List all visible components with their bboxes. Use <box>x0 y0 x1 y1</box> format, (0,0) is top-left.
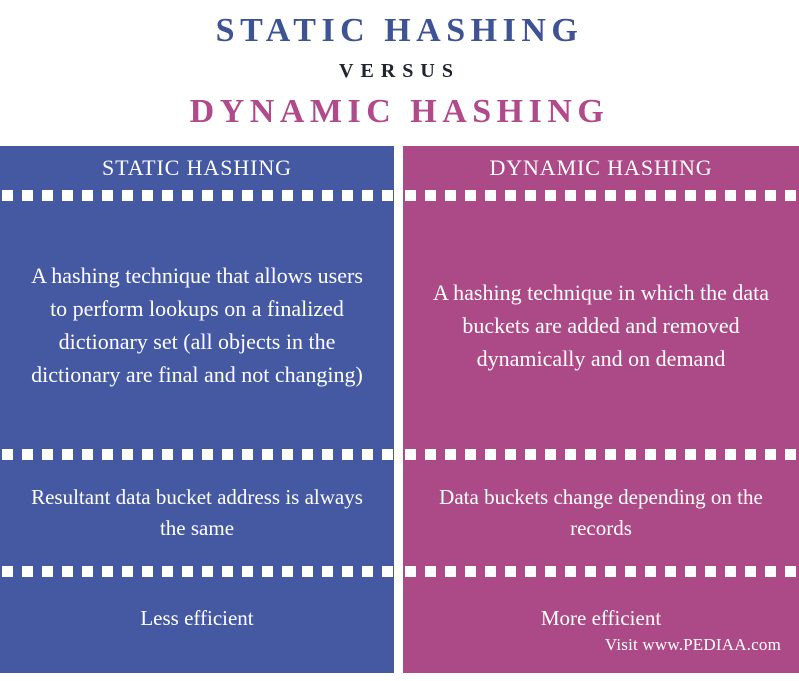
cell-static-address: Resultant data bucket address is always … <box>0 460 394 566</box>
footer-credit: Visit www.PEDIAA.com <box>605 635 781 655</box>
dashed-divider <box>0 190 394 201</box>
infographic-root: STATIC HASHING VERSUS DYNAMIC HASHING ST… <box>0 0 799 681</box>
page-title-versus: VERSUS <box>0 51 799 83</box>
cell-dynamic-buckets: Data buckets change depending on the rec… <box>403 460 799 566</box>
column-header-dynamic: DYNAMIC HASHING <box>403 146 799 190</box>
dashed-divider <box>403 190 799 201</box>
cell-static-definition: A hashing technique that allows users to… <box>0 201 394 449</box>
column-static-hashing: STATIC HASHING A hashing technique that … <box>0 146 394 673</box>
title-block: STATIC HASHING VERSUS DYNAMIC HASHING <box>0 0 799 146</box>
cell-dynamic-definition: A hashing technique in which the data bu… <box>403 201 799 449</box>
comparison-table: STATIC HASHING A hashing technique that … <box>0 146 799 673</box>
page-title-static: STATIC HASHING <box>0 0 799 51</box>
column-dynamic-hashing: DYNAMIC HASHING A hashing technique in w… <box>403 146 799 673</box>
column-header-static: STATIC HASHING <box>0 146 394 190</box>
column-gap-divider <box>394 146 403 673</box>
dashed-divider <box>403 449 799 460</box>
page-title-dynamic: DYNAMIC HASHING <box>0 83 799 132</box>
cell-static-efficiency: Less efficient <box>0 577 394 673</box>
dashed-divider <box>0 566 394 577</box>
cell-dynamic-efficiency: More efficient <box>403 577 799 673</box>
dashed-divider <box>403 566 799 577</box>
dashed-divider <box>0 449 394 460</box>
